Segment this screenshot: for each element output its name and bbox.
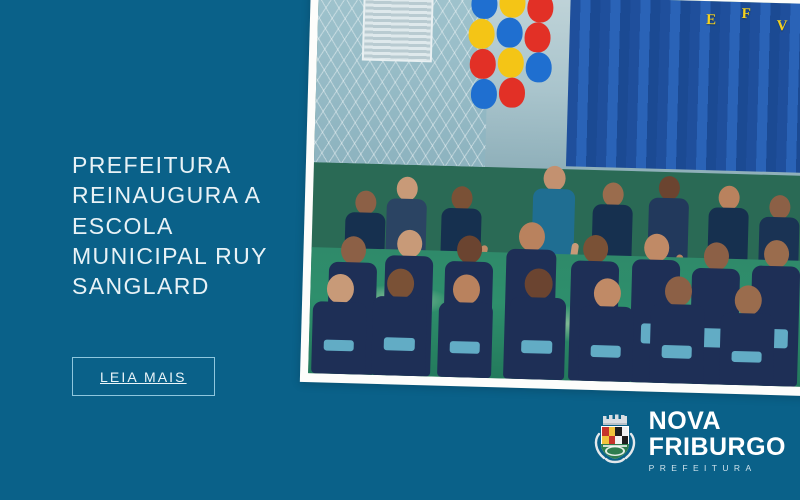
backdrop-letter: V: [776, 18, 787, 35]
headline-block: PREFEITURA REINAUGURA A ESCOLA MUNICIPAL…: [72, 150, 297, 302]
child-figure: [716, 285, 779, 386]
photo-scene: E F V: [308, 0, 800, 387]
nova-friburgo-logo[interactable]: NOVA FRIBURGO PREFEITURA: [592, 409, 786, 473]
child-figure: [646, 275, 709, 384]
coat-of-arms-icon: [592, 414, 638, 466]
article-photo: E F V: [308, 0, 800, 387]
child-figure: [308, 274, 371, 375]
page-title: PREFEITURA REINAUGURA A ESCOLA MUNICIPAL…: [72, 150, 297, 302]
article-photo-frame: E F V: [300, 0, 800, 396]
logo-line-1: NOVA: [649, 409, 786, 434]
logo-line-2: FRIBURGO: [649, 435, 786, 460]
child-figure: [505, 268, 570, 381]
child-figure: [434, 273, 497, 378]
child-figure: [575, 277, 638, 382]
backdrop-letter: F: [741, 6, 751, 23]
blue-curtain-backdrop: [566, 0, 800, 173]
balloon-column: [465, 0, 561, 173]
logo-wordmark: NOVA FRIBURGO PREFEITURA: [649, 409, 786, 473]
backdrop-letter: E: [706, 13, 716, 30]
child-figure: [369, 268, 432, 377]
news-banner: E F V: [0, 0, 800, 500]
read-more-button[interactable]: LEIA MAIS: [72, 357, 215, 396]
window: [362, 0, 433, 62]
logo-subtitle: PREFEITURA: [649, 464, 786, 473]
cta-container: LEIA MAIS: [72, 357, 215, 396]
